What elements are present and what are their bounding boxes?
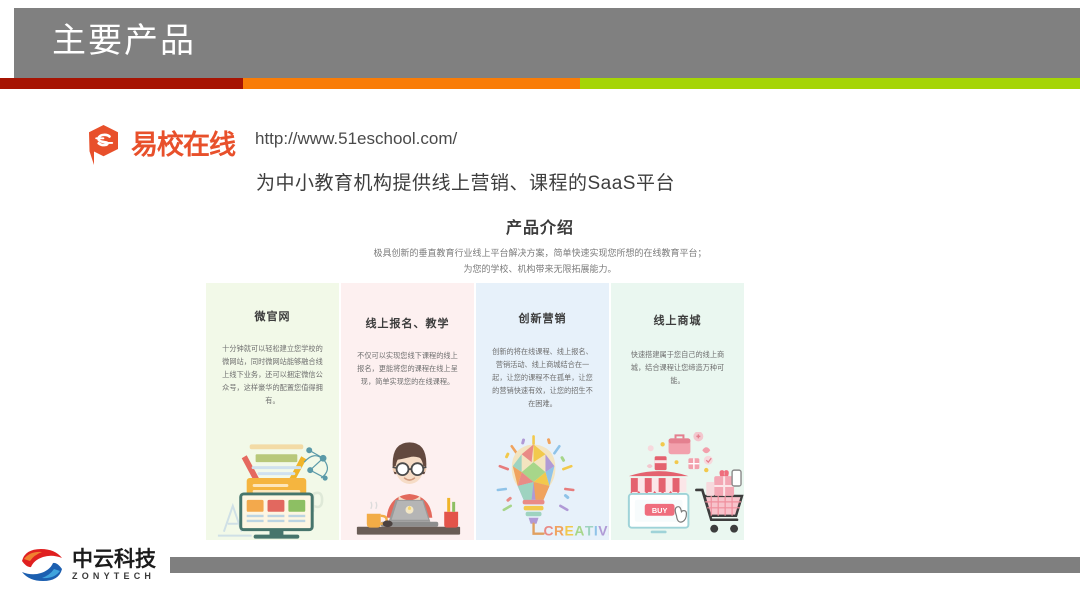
person-laptop-illustration-icon [341,432,474,540]
zonytech-logo: 中云科技 ZONYTECH [18,545,156,585]
buy-word: BUY [652,506,668,515]
footer-bar [170,557,1080,573]
brand-tagline: 为中小教育机构提供线上营销、课程的SaaS平台 [256,168,675,195]
intro-description: 极具创新的垂直教育行业线上平台解决方案，简单快速实现您所想的在线教育平台； 为您… [0,245,1080,277]
shop-cart-illustration-icon: BUY [611,432,744,540]
feature-card-body: 创新的将在线课程、线上报名、营销活动、线上商城结合在一起，让您的课程不在孤单，让… [491,345,595,410]
intro-desc-line-2: 为您的学校、机构带来无限拓展能力。 [0,261,1080,277]
footer-company-name-cn: 中云科技 [72,549,156,570]
feature-card-body: 十分钟就可以轻松建立您学校的微网站，同时微网站能够融合线上线下业务，还可以捆定微… [221,342,325,407]
accent-segment-orange [243,78,580,89]
feature-card-title: 线上商城 [654,312,702,328]
feature-card-weiguanwang[interactable]: 微官网 十分钟就可以轻松建立您学校的微网站，同时微网站能够融合线上线下业务，还可… [206,283,339,540]
footer-company-name-en: ZONYTECH [72,572,156,581]
feature-card-title: 创新营销 [519,310,567,326]
feature-card-title: 微官网 [255,308,291,324]
yixiao-hexagon-logo-icon [84,124,124,166]
intro-title: 产品介绍 [0,214,1080,238]
zonytech-wordmark: 中云科技 ZONYTECH [72,549,156,581]
brand-url[interactable]: http://www.51eschool.com/ [255,129,457,149]
feature-card-body: 不仅可以实现您线下课程的线上报名，更能将您的课程在线上呈现，简单实现您的在线课程… [356,349,460,388]
page-title: 主要产品 [52,20,196,62]
feature-card-title: 线上报名、教学 [366,315,450,331]
creative-word: CREATIVE [543,523,609,539]
product-feature-cards: 微官网 十分钟就可以轻松建立您学校的微网站，同时微网站能够融合线上线下业务，还可… [206,283,744,540]
zonytech-swoosh-logo-icon [18,545,66,585]
accent-color-bar [0,78,1080,89]
accent-segment-red [0,78,243,89]
feature-card-body: 快速搭建属于您自己的线上商城，结合课程让您缔造万种可能。 [626,348,730,387]
feature-card-online-enrollment[interactable]: 线上报名、教学 不仅可以实现您线下课程的线上报名，更能将您的课程在线上呈现，简单… [341,283,474,540]
brand-name: 易校在线 [131,130,235,160]
brand-row: 易校在线 http://www.51eschool.com/ [84,124,457,166]
creative-lightbulb-illustration-icon: CREATIVE [476,432,609,540]
accent-segment-green [580,78,1080,89]
yixiao-logo: 易校在线 [84,124,235,166]
feature-card-innovative-marketing[interactable]: 创新营销 创新的将在线课程、线上报名、营销活动、线上商城结合在一起，让您的课程不… [476,283,609,540]
intro-desc-line-1: 极具创新的垂直教育行业线上平台解决方案，简单快速实现您所想的在线教育平台； [0,245,1080,261]
website-design-illustration-icon [206,432,339,540]
feature-card-online-mall[interactable]: 线上商城 快速搭建属于您自己的线上商城，结合课程让您缔造万种可能。 [611,283,744,540]
